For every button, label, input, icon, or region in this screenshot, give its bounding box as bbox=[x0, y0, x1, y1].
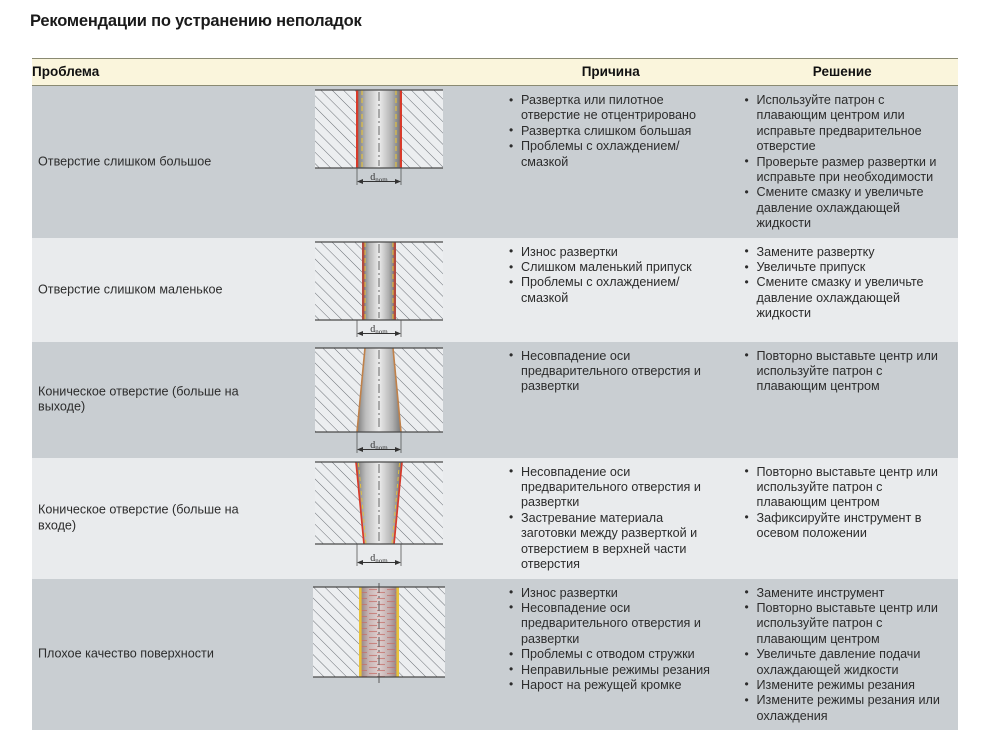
hole-undersize-cross-section-icon: dnom bbox=[305, 238, 453, 342]
hole-oversize-cross-section-icon: dnom bbox=[305, 86, 453, 190]
solution-cell: Замените развертку Увеличьте припуск Сме… bbox=[727, 238, 959, 342]
problem-cell: Коническое отверстие (больше на выходе) bbox=[32, 342, 264, 458]
list-item: Зафиксируйте инструмент в осевом положен… bbox=[745, 511, 953, 542]
solution-cell: Повторно выставьте центр или используйте… bbox=[727, 458, 959, 579]
column-header-cause: Причина bbox=[495, 59, 727, 86]
list-item: Износ развертки bbox=[509, 586, 721, 601]
list-item: Замените инструмент bbox=[745, 586, 953, 601]
diagram-cell bbox=[264, 579, 496, 730]
svg-text:dnom: dnom bbox=[371, 172, 389, 184]
list-item: Проверьте размер развертки и исправьте п… bbox=[745, 155, 953, 186]
table-row: Отверстие слишком маленькое bbox=[32, 238, 958, 342]
table-row: Плохое качество поверхности bbox=[32, 579, 958, 730]
list-item: Износ развертки bbox=[509, 245, 721, 260]
list-item: Развертка или пилотное отверстие не отце… bbox=[509, 93, 721, 124]
cause-cell: Износ развертки Слишком маленький припус… bbox=[495, 238, 727, 342]
list-item: Слишком маленький припуск bbox=[509, 260, 721, 275]
svg-text:dnom: dnom bbox=[371, 440, 389, 452]
dimension-subscript: nom bbox=[376, 444, 389, 452]
list-item: Замените развертку bbox=[745, 245, 953, 260]
diagram-cell: dnom bbox=[264, 86, 496, 238]
problem-label: Плохое качество поверхности bbox=[38, 647, 262, 663]
cause-cell: Несовпадение оси предварительного отверс… bbox=[495, 458, 727, 579]
cause-list: Несовпадение оси предварительного отверс… bbox=[495, 458, 727, 579]
solution-list: Повторно выставьте центр или используйте… bbox=[727, 342, 959, 401]
list-item: Неправильные режимы резания bbox=[509, 663, 721, 678]
cause-cell: Несовпадение оси предварительного отверс… bbox=[495, 342, 727, 458]
problem-label: Коническое отверстие (больше на выходе) bbox=[38, 384, 262, 415]
list-item: Повторно выставьте центр или используйте… bbox=[745, 601, 953, 647]
list-item: Проблемы с отводом стружки bbox=[509, 647, 721, 662]
dimension-subscript: nom bbox=[376, 557, 389, 565]
cause-cell: Износ развертки Несовпадение оси предвар… bbox=[495, 579, 727, 730]
column-header-problem: Проблема bbox=[32, 59, 495, 86]
table-body: Отверстие слишком большое bbox=[32, 86, 958, 730]
list-item: Несовпадение оси предварительного отверс… bbox=[509, 349, 721, 395]
table-row: Коническое отверстие (больше на выходе) bbox=[32, 342, 958, 458]
problem-cell: Отверстие слишком большое bbox=[32, 86, 264, 238]
problem-cell: Отверстие слишком маленькое bbox=[32, 238, 264, 342]
cause-list: Износ развертки Слишком маленький припус… bbox=[495, 238, 727, 313]
list-item: Измените режимы резания или охлаждения bbox=[745, 693, 953, 724]
diagram-cell: dnom bbox=[264, 458, 496, 579]
problem-label: Отверстие слишком маленькое bbox=[38, 282, 262, 298]
solution-cell: Замените инструмент Повторно выставьте ц… bbox=[727, 579, 959, 730]
svg-text:dnom: dnom bbox=[371, 324, 389, 336]
table-header-row: Проблема Причина Решение bbox=[32, 59, 958, 86]
list-item: Используйте патрон с плавающим центром и… bbox=[745, 93, 953, 155]
page-title: Рекомендации по устранению неполадок bbox=[30, 12, 362, 31]
table-row: Отверстие слишком большое bbox=[32, 86, 958, 238]
hole-taper-exit-cross-section-icon: dnom bbox=[305, 342, 453, 458]
problem-cell: Плохое качество поверхности bbox=[32, 579, 264, 730]
dimension-subscript: nom bbox=[376, 328, 389, 336]
troubleshooting-table-container: Проблема Причина Решение Отверстие слишк… bbox=[32, 58, 958, 730]
list-item: Проблемы с охлаждением/смазкой bbox=[509, 275, 721, 306]
troubleshooting-table: Проблема Причина Решение Отверстие слишк… bbox=[32, 58, 958, 730]
problem-label: Отверстие слишком большое bbox=[38, 154, 262, 170]
solution-list: Используйте патрон с плавающим центром и… bbox=[727, 86, 959, 238]
hole-poor-surface-cross-section-icon bbox=[305, 579, 453, 707]
list-item: Проблемы с охлаждением/смазкой bbox=[509, 139, 721, 170]
list-item: Развертка слишком большая bbox=[509, 124, 721, 139]
list-item: Повторно выставьте центр или используйте… bbox=[745, 349, 953, 395]
diagram-cell: dnom bbox=[264, 238, 496, 342]
list-item: Несовпадение оси предварительного отверс… bbox=[509, 465, 721, 511]
dimension-subscript: nom bbox=[376, 176, 389, 184]
cause-list: Несовпадение оси предварительного отверс… bbox=[495, 342, 727, 401]
table-header: Проблема Причина Решение bbox=[32, 59, 958, 86]
cause-list: Износ развертки Несовпадение оси предвар… bbox=[495, 579, 727, 700]
svg-text:dnom: dnom bbox=[371, 553, 389, 565]
list-item: Повторно выставьте центр или используйте… bbox=[745, 465, 953, 511]
table-row: Коническое отверстие (больше на входе) bbox=[32, 458, 958, 579]
solution-list: Повторно выставьте центр или используйте… bbox=[727, 458, 959, 548]
list-item: Нарост на режущей кромке bbox=[509, 678, 721, 693]
list-item: Смените смазку и увеличьте давление охла… bbox=[745, 275, 953, 321]
list-item: Измените режимы резания bbox=[745, 678, 953, 693]
problem-cell: Коническое отверстие (больше на входе) bbox=[32, 458, 264, 579]
cause-list: Развертка или пилотное отверстие не отце… bbox=[495, 86, 727, 176]
cause-cell: Развертка или пилотное отверстие не отце… bbox=[495, 86, 727, 238]
list-item: Увеличьте припуск bbox=[745, 260, 953, 275]
solution-list: Замените развертку Увеличьте припуск Сме… bbox=[727, 238, 959, 328]
hole-taper-entry-cross-section-icon: dnom bbox=[305, 458, 453, 572]
problem-label: Коническое отверстие (больше на входе) bbox=[38, 503, 262, 534]
list-item: Застревание материала заготовки между ра… bbox=[509, 511, 721, 573]
column-header-solution: Решение bbox=[727, 59, 959, 86]
solution-cell: Используйте патрон с плавающим центром и… bbox=[727, 86, 959, 238]
solution-list: Замените инструмент Повторно выставьте ц… bbox=[727, 579, 959, 730]
solution-cell: Повторно выставьте центр или используйте… bbox=[727, 342, 959, 458]
list-item: Увеличьте давление подачи охлаждающей жи… bbox=[745, 647, 953, 678]
list-item: Несовпадение оси предварительного отверс… bbox=[509, 601, 721, 647]
diagram-cell: dnom bbox=[264, 342, 496, 458]
list-item: Смените смазку и увеличьте давление охла… bbox=[745, 185, 953, 231]
